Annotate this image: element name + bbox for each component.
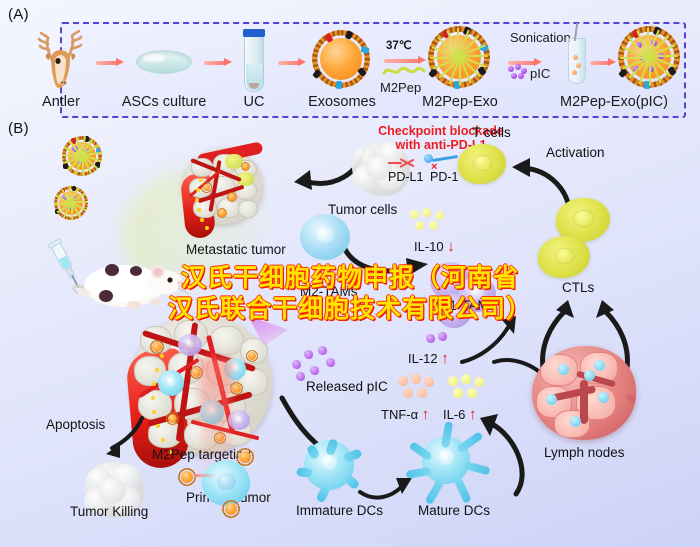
tumor-killing-label: Tumor Killing [70, 504, 148, 519]
deer-icon [32, 30, 96, 92]
il-10-trend-icon: ↓ [447, 238, 455, 255]
mouse-icon [72, 256, 192, 316]
apoptosis-label: Apoptosis [46, 417, 105, 432]
metastatic-tumor-label: Metastatic tumor [186, 242, 286, 257]
step-label-m2pep-exo-pic: M2Pep-Exo(pIC) [560, 94, 700, 110]
released-pic-dot-cluster [292, 346, 336, 380]
pd-l1-label: PD-L1 [388, 170, 423, 184]
process-arrow-6 [590, 58, 616, 67]
targeting-exosome-3 [222, 500, 240, 518]
sonication-tube-icon [568, 38, 586, 84]
exosome-loaded-pic-icon [618, 26, 680, 88]
lymph-nodes-label: Lymph nodes [544, 445, 625, 460]
il-12-dot-cluster [426, 332, 452, 348]
sonication-label: Sonication [510, 30, 571, 45]
targeting-link-line [194, 474, 216, 477]
targeted-macrophage-icon [202, 460, 250, 506]
step-label-uc: UC [228, 94, 280, 110]
immature-dc-icon [304, 440, 354, 490]
tnf-alpha-trend-icon: ↑ [422, 406, 430, 423]
free-exosome-1 [62, 136, 102, 176]
il-12-label: IL-12 [408, 351, 438, 366]
pic-label: pIC [530, 66, 550, 81]
tnf-alpha-dot-cluster [398, 374, 436, 400]
panel-a-letter: (A) [8, 6, 29, 23]
step-label-m2pep-exo: M2Pep-Exo [408, 94, 512, 110]
step-label-asc-culture: ASCs culture [118, 94, 210, 110]
il-10-dot-cluster [410, 208, 448, 234]
centrifuge-tube-icon [244, 34, 264, 92]
exosome-icon [312, 30, 370, 88]
figure-canvas: (A) [0, 0, 700, 547]
tnf-alpha-label: TNF-α [381, 407, 418, 422]
arrow-maturedc-to-cytokines [462, 410, 552, 498]
t-cells-label: T cells [472, 125, 511, 140]
m2-tams-label: M2-TAMs [300, 284, 358, 299]
mature-dcs-label: Mature DCs [418, 503, 490, 518]
targeting-exosome-1 [236, 448, 254, 466]
tnf-alpha-annotation: TNF-α ↑ [381, 406, 429, 423]
pic-cluster-icon [508, 64, 528, 80]
process-arrow-2 [204, 58, 232, 67]
panel-a: (A) [0, 0, 700, 122]
arrow-apoptosis [98, 414, 150, 466]
exosome-with-peptide-icon [428, 26, 490, 88]
panel-b-letter: (B) [8, 120, 29, 137]
step-label-antler: Antler [26, 94, 96, 110]
m2pep-label: M2Pep [380, 80, 421, 95]
process-arrow-3 [278, 58, 306, 67]
process-arrow-1 [96, 58, 124, 67]
released-pic-label: Released pIC [306, 379, 388, 394]
targeting-exosome-2 [178, 468, 196, 486]
pd-1-label: PD-1 [430, 170, 458, 184]
tumor-cells-label: Tumor cells [328, 202, 397, 217]
free-exosome-2 [54, 186, 88, 220]
arrow-m2-to-m1 [336, 238, 436, 284]
panel-b: (B) [0, 118, 700, 547]
petri-dish-icon [136, 50, 192, 74]
ctl-cell-2 [538, 236, 590, 278]
temperature-label: 37℃ [386, 38, 412, 52]
il-6-dot-cluster [448, 374, 486, 400]
il-12-trend-icon: ↑ [441, 350, 449, 367]
ctls-label: CTLs [562, 280, 594, 295]
m1-tams-label: M1-TAMs [438, 298, 496, 313]
m2-tam-cell-icon [300, 214, 350, 260]
t-cell-icon [458, 144, 506, 184]
mature-dc-icon [422, 436, 470, 484]
il-12-annotation: IL-12 ↑ [408, 350, 449, 367]
step-label-exosomes: Exosomes [302, 94, 382, 110]
